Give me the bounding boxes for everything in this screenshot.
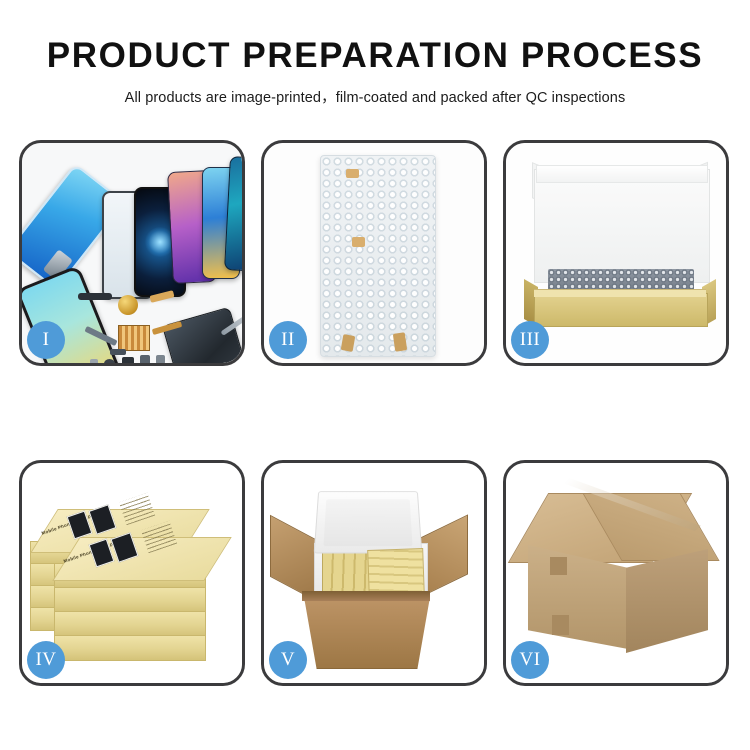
process-step-5[interactable]: V: [261, 460, 487, 686]
box-lid-edge-icon: [536, 165, 708, 183]
process-step-grid: I II: [19, 140, 731, 686]
phone-back-housing-icon: [162, 307, 242, 363]
carton-hand-hole-icon: [552, 615, 569, 635]
tape-icon: [346, 169, 359, 178]
step-badge-2: II: [269, 321, 307, 359]
carton-face-right-icon: [626, 549, 708, 653]
small-part-icon: [110, 349, 126, 355]
step-badge-1: I: [27, 321, 65, 359]
carton-front-icon: [304, 597, 430, 669]
process-step-2[interactable]: II: [261, 140, 487, 366]
process-step-6[interactable]: VI: [503, 460, 729, 686]
box-front-panel-icon: [534, 293, 708, 327]
page-header: PRODUCT PREPARATION PROCESS All products…: [0, 38, 750, 107]
stacked-box: [54, 611, 206, 637]
box-rim-icon: [534, 289, 706, 297]
carton-rim-icon: [302, 591, 430, 601]
camera-lens-icon: [104, 359, 115, 363]
small-part-icon: [122, 357, 134, 363]
page-subtitle: All products are image-printed，film-coat…: [0, 86, 750, 107]
stacked-box: [54, 587, 206, 613]
box-lid-icon: [534, 169, 710, 283]
tape-icon: [352, 237, 365, 247]
foam-lid-icon: [314, 491, 423, 553]
step-badge-6: VI: [511, 641, 549, 679]
stacked-box: [54, 635, 206, 661]
speaker-module-icon: [78, 293, 112, 300]
step-badge-4: IV: [27, 641, 65, 679]
chip-array-icon: [118, 325, 150, 351]
vibration-motor-icon: [118, 295, 138, 315]
tape-icon: [393, 332, 407, 351]
process-step-1[interactable]: I: [19, 140, 245, 366]
carton-hand-hole-icon: [550, 557, 567, 575]
small-part-icon: [156, 355, 165, 363]
page-title: PRODUCT PREPARATION PROCESS: [0, 38, 750, 75]
small-part-icon: [140, 355, 150, 363]
step-badge-3: III: [511, 321, 549, 359]
product-preparation-page: PRODUCT PREPARATION PROCESS All products…: [0, 0, 750, 750]
small-part-icon: [90, 359, 98, 363]
printed-box-lid: [52, 537, 231, 581]
process-step-4[interactable]: Mobile Phone Spare Parts Mobile Phone Sp…: [19, 460, 245, 686]
carton-flap-left-icon: [270, 515, 316, 601]
step-badge-5: V: [269, 641, 307, 679]
process-step-3[interactable]: III: [503, 140, 729, 366]
foam-lid-inner: [324, 499, 413, 546]
bubble-wrap-icon: [320, 155, 436, 357]
